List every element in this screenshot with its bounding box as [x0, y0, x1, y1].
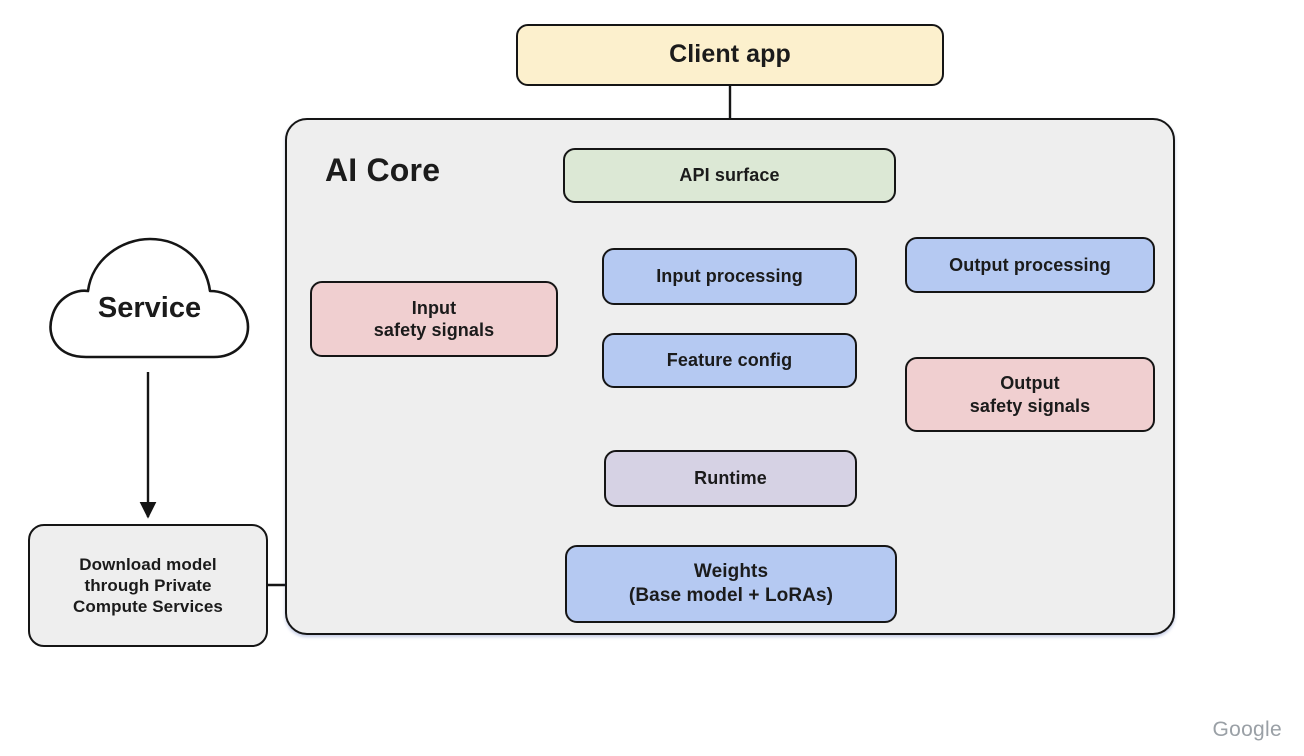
node-input-safety-signals[interactable]: Input safety signals: [310, 281, 558, 357]
diagram-canvas: AI Core: [0, 0, 1304, 756]
node-download-model[interactable]: Download model through Private Compute S…: [28, 524, 268, 647]
node-download-model-label: Download model through Private Compute S…: [73, 554, 223, 618]
node-output-processing-label: Output processing: [949, 254, 1111, 277]
node-client-app-label: Client app: [669, 39, 791, 70]
node-feature-config-label: Feature config: [667, 349, 792, 372]
google-wordmark: Google: [1212, 718, 1282, 742]
node-input-processing[interactable]: Input processing: [602, 248, 857, 305]
node-output-safety-signals[interactable]: Output safety signals: [905, 357, 1155, 432]
node-weights[interactable]: Weights (Base model + LoRAs): [565, 545, 897, 623]
node-weights-label: Weights (Base model + LoRAs): [629, 560, 833, 608]
ai-core-title: AI Core: [325, 152, 440, 189]
node-client-app[interactable]: Client app: [516, 24, 944, 86]
node-api-surface-label: API surface: [679, 164, 779, 187]
node-output-processing[interactable]: Output processing: [905, 237, 1155, 293]
node-output-safety-signals-label: Output safety signals: [970, 372, 1090, 417]
node-runtime[interactable]: Runtime: [604, 450, 857, 507]
node-input-processing-label: Input processing: [656, 265, 803, 288]
node-api-surface[interactable]: API surface: [563, 148, 896, 203]
node-feature-config[interactable]: Feature config: [602, 333, 857, 388]
node-input-safety-signals-label: Input safety signals: [374, 297, 494, 342]
node-runtime-label: Runtime: [694, 467, 767, 490]
service-cloud-label: Service: [42, 225, 257, 375]
